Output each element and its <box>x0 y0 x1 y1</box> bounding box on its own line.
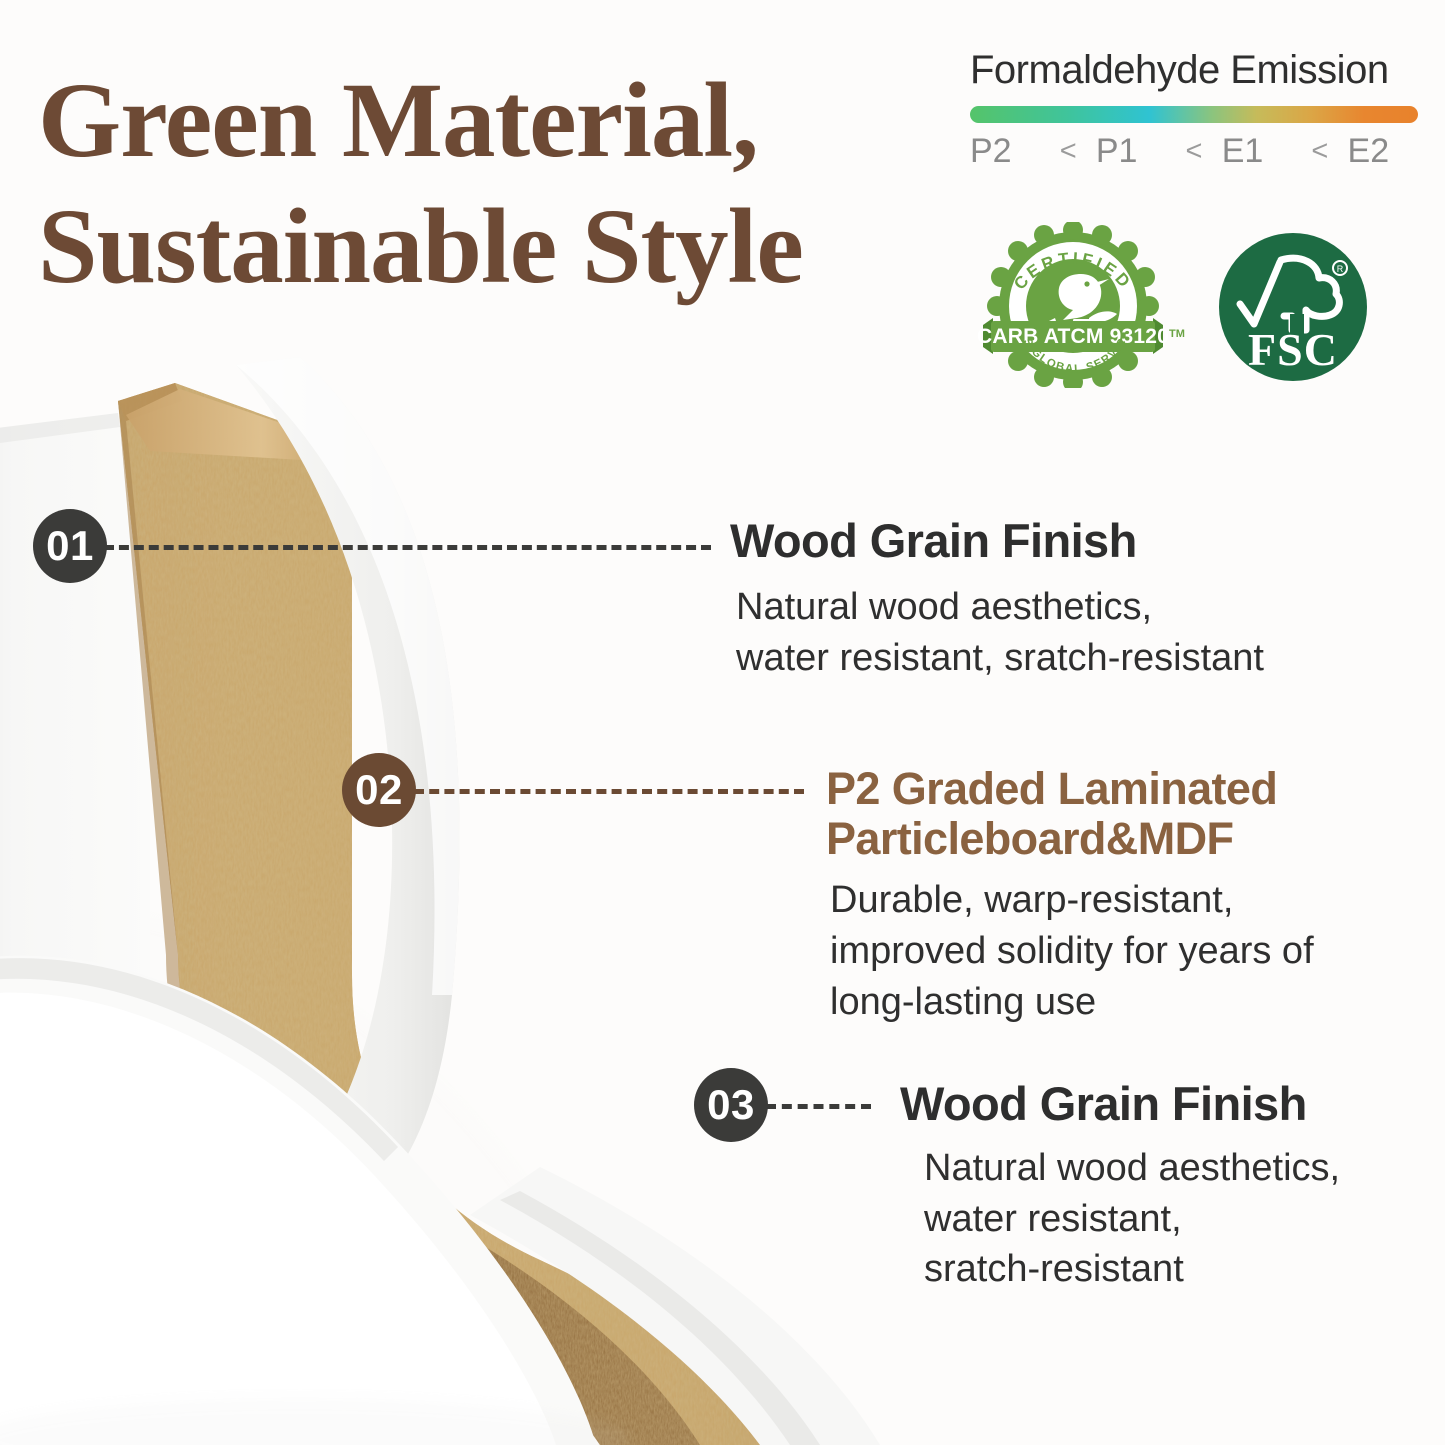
emission-separator-3: < <box>1292 135 1347 168</box>
infographic-canvas: Green Material, Sustainable Style Formal… <box>0 0 1445 1445</box>
emission-separator-2: < <box>1166 135 1221 168</box>
callout-02-body-line-1: Durable, warp-resistant, <box>830 875 1386 926</box>
callout-01-body: Natural wood aesthetics, water resistant… <box>736 582 1330 684</box>
emission-gradient-bar <box>970 106 1418 123</box>
callout-02-body-line-3: long-lasting use <box>830 977 1386 1028</box>
fsc-registered-letter: R <box>1337 264 1344 274</box>
leader-line-02 <box>414 789 804 794</box>
emission-label-p1: P1 <box>1096 132 1166 171</box>
callout-02-title-line-1: P2 Graded Laminated <box>826 764 1386 814</box>
emission-scale: P2 < P1 < E1 < E2 <box>970 132 1418 171</box>
carb-trademark-text: TM <box>1169 328 1185 340</box>
callout-03-body: Natural wood aesthetics, water resistant… <box>924 1143 1400 1296</box>
page-title: Green Material, Sustainable Style <box>38 58 968 311</box>
callout-01: Wood Grain Finish Natural wood aesthetic… <box>730 515 1330 683</box>
callout-badge-03[interactable]: 03 <box>694 1068 768 1142</box>
callout-02-title: P2 Graded Laminated Particleboard&MDF <box>826 764 1386 865</box>
headline-line-1: Green Material, <box>38 62 758 180</box>
callout-02-body: Durable, warp-resistant, improved solidi… <box>830 875 1386 1028</box>
carb-banner-text: CARB ATCM 93120 <box>977 325 1169 348</box>
callout-01-body-line-1: Natural wood aesthetics, <box>736 582 1330 633</box>
callout-02: P2 Graded Laminated Particleboard&MDF Du… <box>826 764 1386 1028</box>
callout-01-body-line-2: water resistant, sratch-resistant <box>736 633 1330 684</box>
leader-line-03 <box>766 1104 871 1109</box>
emission-title: Formaldehyde Emission <box>970 48 1418 93</box>
callout-03-title: Wood Grain Finish <box>900 1078 1400 1131</box>
callout-02-body-line-2: improved solidity for years of <box>830 926 1386 977</box>
callout-02-title-line-2: Particleboard&MDF <box>826 814 1386 864</box>
fsc-certified-icon: FSC R <box>1218 232 1368 382</box>
emission-label-e1: E1 <box>1222 132 1292 171</box>
emission-label-e2: E2 <box>1348 132 1418 171</box>
emission-label-p2: P2 <box>970 132 1040 171</box>
carb-certified-icon: CERTIFIED CARB ATCM 93120 TM SCS GLOBAL … <box>977 222 1195 388</box>
fsc-label: FSC <box>1248 324 1338 375</box>
callout-badge-01[interactable]: 01 <box>33 509 107 583</box>
carb-banner: CARB ATCM 93120 TM <box>977 318 1185 354</box>
leader-line-01 <box>104 545 711 550</box>
callout-01-title: Wood Grain Finish <box>730 515 1330 568</box>
callout-03-body-line-3: sratch-resistant <box>924 1244 1400 1295</box>
headline-line-2: Sustainable Style <box>38 184 968 310</box>
emission-separator-1: < <box>1040 135 1095 168</box>
callout-03: Wood Grain Finish Natural wood aesthetic… <box>900 1078 1400 1295</box>
callout-03-body-line-1: Natural wood aesthetics, <box>924 1143 1400 1194</box>
callout-03-body-line-2: water resistant, <box>924 1194 1400 1245</box>
formaldehyde-emission-panel: Formaldehyde Emission P2 < P1 < E1 < E2 <box>970 48 1418 171</box>
callout-badge-02[interactable]: 02 <box>342 753 416 827</box>
